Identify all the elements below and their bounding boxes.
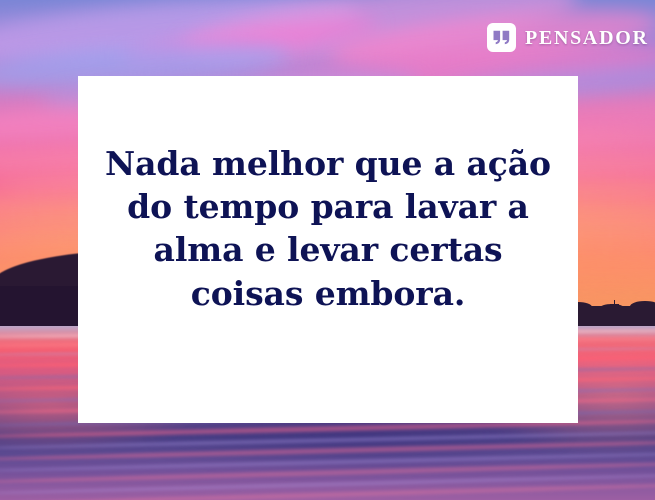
logo-wordmark: PENSADOR [525,28,649,48]
antenna-silhouette [614,300,615,314]
quote-text: Nada melhor que a ação do tempo para lav… [104,142,552,315]
antenna-crossbar [610,304,619,305]
quote-image-canvas: PENSADOR Nada melhor que a ação do tempo… [0,0,655,500]
quote-card: Nada melhor que a ação do tempo para lav… [78,76,578,423]
pensador-logo[interactable]: PENSADOR [487,23,649,52]
quote-mark-icon [487,23,516,52]
